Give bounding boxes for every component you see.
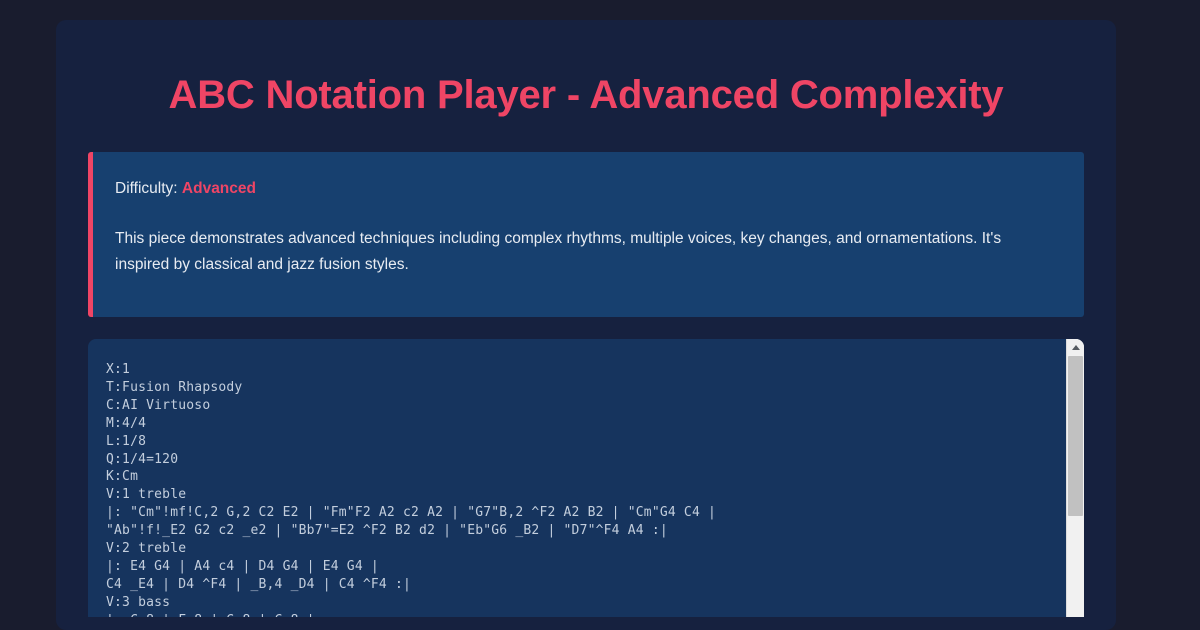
info-description: This piece demonstrates advanced techniq… — [115, 226, 1045, 279]
triangle-up-icon — [1072, 345, 1080, 350]
abc-notation-editor[interactable]: X:1 T:Fusion Rhapsody C:AI Virtuoso M:4/… — [88, 339, 1084, 617]
page-title: ABC Notation Player - Advanced Complexit… — [88, 54, 1084, 152]
difficulty-info-box: Difficulty: Advanced This piece demonstr… — [88, 152, 1084, 317]
difficulty-label: Difficulty: — [115, 180, 178, 197]
scrollbar-thumb[interactable] — [1068, 356, 1083, 516]
page-root: ABC Notation Player - Advanced Complexit… — [0, 0, 1200, 630]
app-card: ABC Notation Player - Advanced Complexit… — [56, 20, 1116, 630]
difficulty-value: Advanced — [182, 180, 256, 197]
abc-notation-code[interactable]: X:1 T:Fusion Rhapsody C:AI Virtuoso M:4/… — [106, 361, 1056, 617]
abc-notation-code-area[interactable]: X:1 T:Fusion Rhapsody C:AI Virtuoso M:4/… — [88, 339, 1066, 617]
scroll-up-button[interactable] — [1067, 339, 1084, 355]
vertical-scrollbar[interactable] — [1066, 339, 1084, 617]
difficulty-line: Difficulty: Advanced — [115, 178, 1060, 200]
